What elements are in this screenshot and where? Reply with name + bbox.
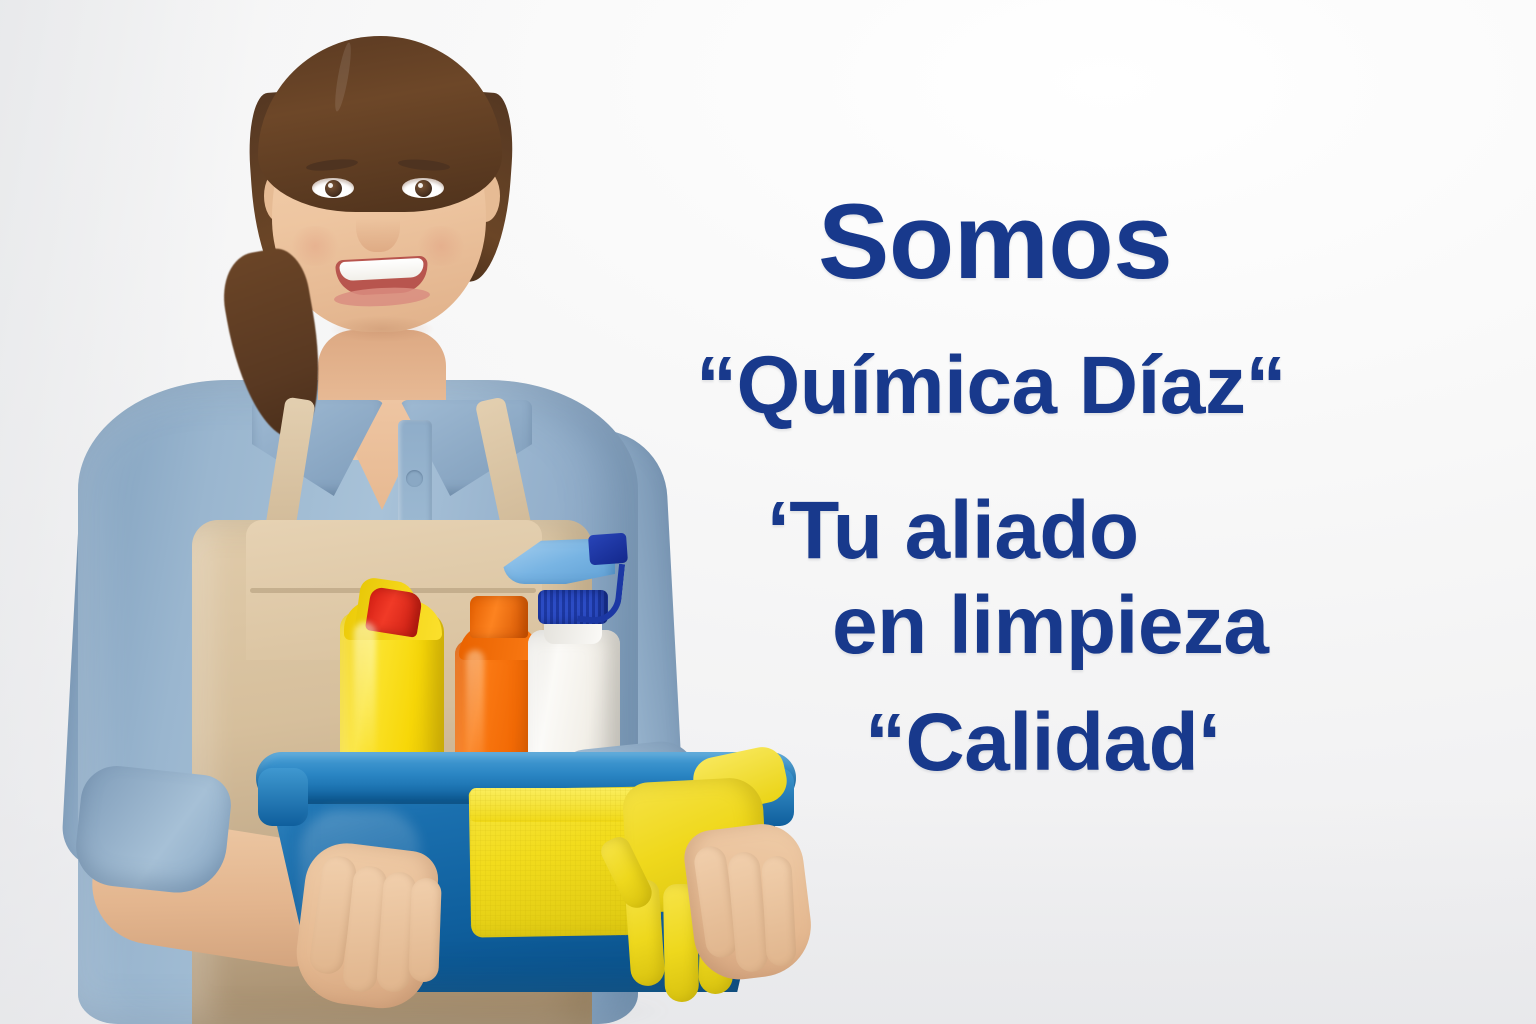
headline-slogan-line-1: ‘Tu aliado (767, 490, 1139, 572)
teeth (339, 258, 424, 281)
rolled-cuff-left (72, 762, 234, 897)
hair-top (258, 36, 502, 212)
headline-quality: “Calidad‘ (865, 702, 1220, 784)
iris-left (325, 180, 342, 197)
promotional-banner: Somos “Química Díaz“ ‘Tu aliado en limpi… (0, 0, 1536, 1024)
headline-block: Somos “Química Díaz“ ‘Tu aliado en limpi… (700, 0, 1536, 1024)
headline-somos: Somos (818, 188, 1172, 295)
eye-left (312, 178, 354, 198)
hero-photo (0, 0, 820, 1024)
iris-right (415, 180, 432, 197)
headline-brand: “Química Díaz“ (696, 345, 1286, 427)
cheek-left (288, 226, 342, 266)
finger-left-4 (408, 878, 442, 983)
shirt-button (406, 470, 423, 487)
spray-nozzle-icon (588, 533, 628, 566)
orange-cap-icon (470, 596, 528, 638)
eye-right (402, 178, 444, 198)
chin-shadow (330, 316, 434, 342)
nose (356, 196, 400, 252)
caddy-handle-left (258, 768, 308, 826)
yellow-bottle-highlight (354, 622, 376, 772)
headline-slogan-line-2: en limpieza (832, 585, 1269, 667)
